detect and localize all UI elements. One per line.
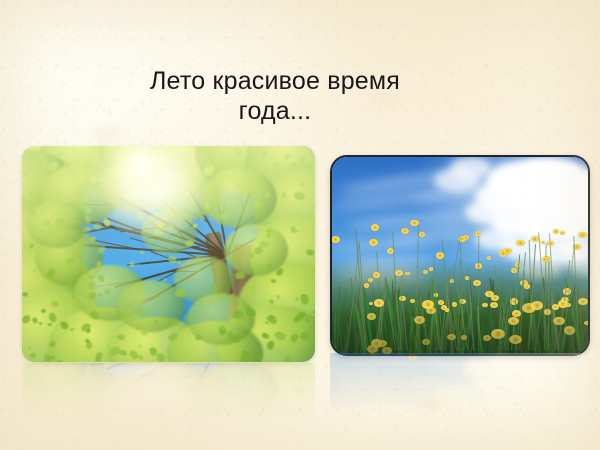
tree-canopy-artwork: [22, 146, 315, 362]
slide-canvas: Лето красивое время года...: [0, 0, 600, 450]
slide-title: Лето красивое время года...: [0, 66, 550, 126]
tree-canopy-reflection: [22, 363, 315, 441]
tree-canopy-photo[interactable]: [22, 146, 315, 362]
daisy-field-image: [332, 157, 588, 354]
daisy-field-photo[interactable]: [330, 155, 590, 356]
tree-canopy-image: [22, 146, 315, 362]
daisy-field-reflection: [330, 353, 586, 423]
daisy-field-artwork: [332, 157, 588, 354]
